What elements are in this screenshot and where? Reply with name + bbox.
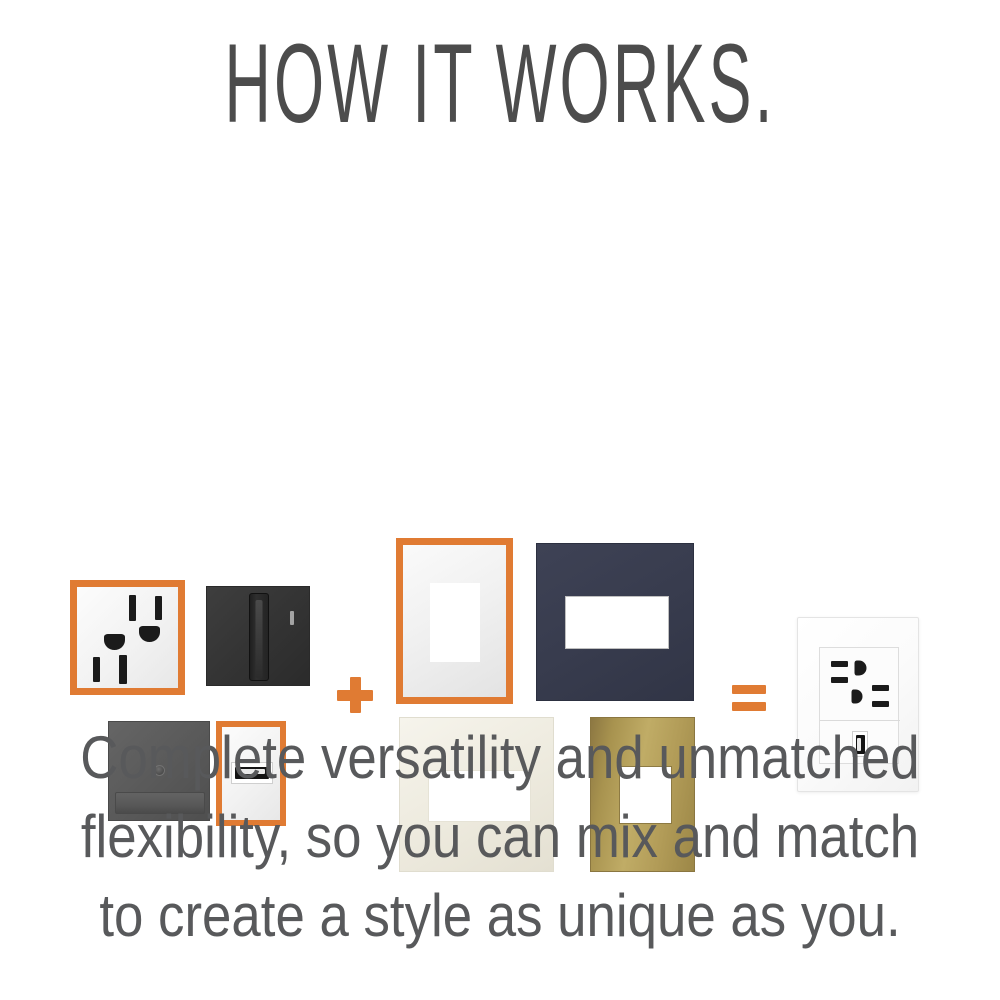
outlet-slot [831,661,848,667]
caption-text: Complete versatility and unmatched flexi… [0,718,1000,955]
outlet-slot [129,595,136,621]
plate-aperture [565,596,669,649]
outlet-slot [831,677,848,683]
page-title: HOW IT WORKS. [190,28,810,140]
outlet-face [70,580,185,695]
dimmer-paddle-inner [256,600,263,678]
plate-navy-2gang[interactable] [536,543,694,701]
dimmer-paddle[interactable] [249,593,269,681]
plate-face [536,543,694,701]
outlet-ground-pin [104,634,125,650]
diagram-area [0,255,1000,655]
outlet-ground-pin [139,626,160,642]
outlet-slot [93,657,100,682]
outlet-ground-pin [852,690,863,704]
dimmer-led-indicator [290,611,294,625]
outlet-slot [155,596,162,620]
outlet-slot [872,685,889,691]
dimmer-face [206,586,310,686]
plate-aperture [430,583,480,662]
outlet-slot [872,701,889,707]
device-outlet-white[interactable] [70,580,185,695]
plus-operator-icon [337,677,373,713]
caption-line-1: Complete versatility and unmatched [60,718,940,797]
caption-line-3: to create a style as unique as you. [60,876,940,955]
plate-white-1gang[interactable] [396,538,513,704]
plate-face [396,538,513,704]
outlet-ground-pin [855,661,867,676]
caption-line-2: flexibility, so you can mix and match [60,797,940,876]
outlet-slot [119,655,127,684]
equals-operator-icon [732,685,766,711]
how-it-works-infographic: HOW IT WORKS. [0,0,1000,1000]
device-dimmer-dark[interactable] [206,586,310,686]
